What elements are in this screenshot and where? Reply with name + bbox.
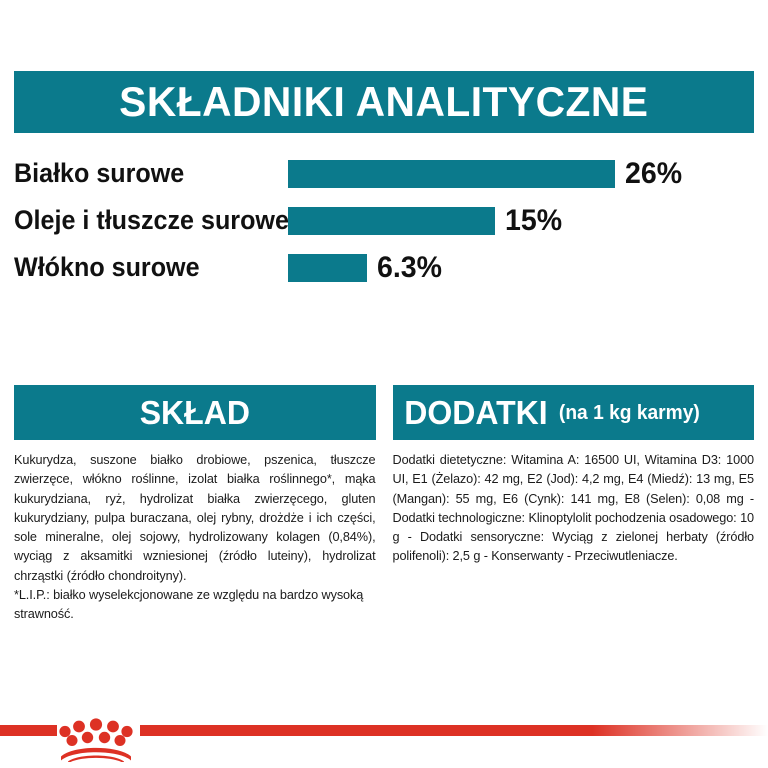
chart-row-track: 15% (288, 206, 565, 236)
footer-rule-right (140, 725, 768, 736)
additives-body: Dodatki dietetyczne: Witamina A: 16500 U… (393, 440, 755, 567)
analytical-constituents-chart: Białko surowe 26% Oleje i tłuszcze surow… (0, 150, 768, 291)
composition-panel: SKŁAD Kukurydza, suszone białko drobiowe… (14, 385, 376, 625)
chart-bar (288, 254, 367, 282)
composition-header: SKŁAD (14, 385, 376, 440)
chart-row: Włókno surowe 6.3% (0, 244, 768, 291)
product-info-panel: SKŁADNIKI ANALITYCZNE Białko surowe 26% … (0, 0, 768, 768)
chart-row: Oleje i tłuszcze surowe 15% (0, 197, 768, 244)
chart-row-track: 6.3% (288, 253, 445, 283)
composition-title: SKŁAD (140, 396, 250, 429)
composition-text: Kukurydza, suszone białko drobiowe, psze… (14, 451, 376, 586)
footer-rule-left (0, 725, 57, 736)
chart-row: Białko surowe 26% (0, 150, 768, 197)
chart-row-label: Oleje i tłuszcze surowe (14, 207, 258, 234)
additives-title: DODATKI (404, 396, 547, 429)
footer (0, 714, 768, 768)
page-title: SKŁADNIKI ANALITYCZNE (119, 81, 648, 123)
chart-bar (288, 160, 615, 188)
additives-text: Dodatki dietetyczne: Witamina A: 16500 U… (393, 451, 755, 567)
chart-row-value: 26% (625, 159, 682, 189)
chart-row-value: 6.3% (377, 253, 442, 283)
chart-row-label: Włókno surowe (14, 254, 258, 281)
royal-canin-crown-icon (57, 714, 135, 762)
detail-panels: SKŁAD Kukurydza, suszone białko drobiowe… (0, 385, 768, 625)
chart-bar (288, 207, 495, 235)
additives-subtitle: (na 1 kg karmy) (559, 403, 700, 423)
chart-row-track: 26% (288, 159, 685, 189)
additives-header: DODATKI (na 1 kg karmy) (393, 385, 755, 440)
composition-footnote: *L.I.P.: białko wyselekcjonowane ze wzgl… (14, 586, 376, 625)
chart-row-value: 15% (505, 206, 562, 236)
composition-body: Kukurydza, suszone białko drobiowe, psze… (14, 440, 376, 625)
analytical-constituents-header: SKŁADNIKI ANALITYCZNE (14, 71, 754, 133)
chart-row-label: Białko surowe (14, 160, 258, 187)
additives-panel: DODATKI (na 1 kg karmy) Dodatki dietetyc… (393, 385, 755, 625)
